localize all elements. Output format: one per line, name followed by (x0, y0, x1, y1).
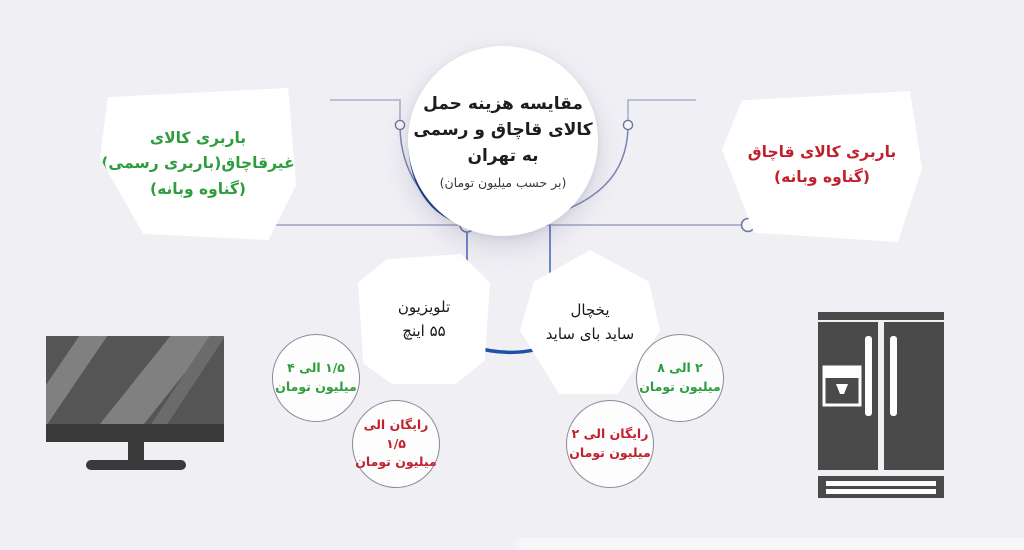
bottom-band (0, 538, 1024, 550)
node-top-left[interactable] (395, 120, 404, 129)
price-television-smuggled-text: رایگان الی ۱/۵ میلیون تومان (353, 416, 439, 472)
node-top-right[interactable] (623, 120, 632, 129)
hub-title-line2: کالای قاچاق و رسمی (413, 118, 592, 144)
product-television-label: تلویزیون ۵۵ اینچ (398, 295, 450, 344)
price-bubble-television-smuggled[interactable]: رایگان الی ۱/۵ میلیون تومان (352, 400, 440, 488)
wire-top-right (628, 100, 696, 125)
product-refrigerator-line1: یخچال (546, 298, 634, 322)
infographic-canvas: مقایسه هزینه حمل کالای قاچاق و رسمی به ت… (0, 0, 1024, 550)
price-television-legal-line1: ۱/۵ الی ۴ (275, 359, 357, 378)
price-refrigerator-legal-text: ۲ الی ۸ میلیون تومان (639, 359, 721, 397)
price-refrigerator-smuggled-line1: رایگان الی ۲ (569, 425, 651, 444)
product-television-line1: تلویزیون (398, 295, 450, 319)
price-television-smuggled-line2: میلیون تومان (353, 453, 439, 472)
price-television-legal-text: ۱/۵ الی ۴ میلیون تومان (275, 359, 357, 397)
category-card-legal[interactable]: باربری کالای غیرقاچاق(باربری رسمی) (گناو… (100, 88, 296, 240)
product-television-line2: ۵۵ اینچ (398, 319, 450, 343)
price-refrigerator-legal-line1: ۲ الی ۸ (639, 359, 721, 378)
product-card-television[interactable]: تلویزیون ۵۵ اینچ (358, 254, 490, 384)
hub-title-line3: به تهران (467, 144, 538, 170)
category-smuggled-label: باربری کالای قاچاق (گناوه وبانه) (748, 140, 896, 190)
price-refrigerator-legal-line2: میلیون تومان (639, 378, 721, 397)
category-smuggled-line2: (گناوه وبانه) (748, 165, 896, 190)
category-legal-line2: غیرقاچاق(باربری رسمی) (101, 151, 294, 176)
category-legal-line1: باربری کالای (101, 126, 294, 151)
price-television-smuggled-line1: رایگان الی ۱/۵ (353, 416, 439, 454)
price-refrigerator-smuggled-text: رایگان الی ۲ میلیون تومان (569, 425, 651, 463)
television-icon (44, 334, 230, 480)
hub-title-circle: مقایسه هزینه حمل کالای قاچاق و رسمی به ت… (408, 46, 598, 236)
refrigerator-icon (806, 312, 956, 504)
category-legal-label: باربری کالای غیرقاچاق(باربری رسمی) (گناو… (101, 126, 294, 201)
price-bubble-television-legal[interactable]: ۱/۵ الی ۴ میلیون تومان (272, 334, 360, 422)
hub-unit-note: (بر حسب میلیون تومان) (440, 175, 567, 190)
product-refrigerator-line2: ساید بای ساید (546, 322, 634, 346)
price-refrigerator-smuggled-line2: میلیون تومان (569, 444, 651, 463)
category-card-smuggled[interactable]: باربری کالای قاچاق (گناوه وبانه) (722, 88, 922, 242)
category-smuggled-line1: باربری کالای قاچاق (748, 140, 896, 165)
price-television-legal-line2: میلیون تومان (275, 378, 357, 397)
wire-top-left (330, 100, 400, 125)
price-bubble-refrigerator-legal[interactable]: ۲ الی ۸ میلیون تومان (636, 334, 724, 422)
product-refrigerator-label: یخچال ساید بای ساید (546, 298, 634, 347)
price-bubble-refrigerator-smuggled[interactable]: رایگان الی ۲ میلیون تومان (566, 400, 654, 488)
hub-title-line1: مقایسه هزینه حمل (423, 92, 583, 118)
category-legal-line3: (گناوه وبانه) (101, 177, 294, 202)
